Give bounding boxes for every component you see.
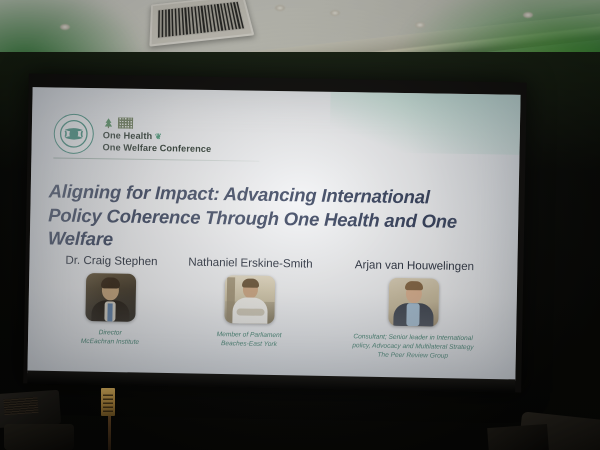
logo-mini-icon-row xyxy=(103,116,212,130)
logo-line1-text: One Health xyxy=(103,130,153,141)
speaker-name: Arjan van Houwelingen xyxy=(355,258,474,274)
speaker-card: Dr. Craig Stephen Director McEachran Ins… xyxy=(44,253,178,347)
speaker-row: Dr. Craig Stephen Director McEachran Ins… xyxy=(44,253,506,361)
building-grid-icon xyxy=(118,117,133,128)
ceiling-downlight xyxy=(415,22,425,28)
microphone-flag-card-text xyxy=(103,392,113,412)
ceiling-downlight xyxy=(275,5,285,11)
presentation-slide: One Health ❦ One Welfare Conference Alig… xyxy=(27,87,520,381)
leaf-icon: ❦ xyxy=(155,132,162,141)
hvac-vent-louvers xyxy=(157,1,245,39)
ceiling-downlight xyxy=(60,24,70,30)
speaker-card: Arjan van Houwelingen Consultant; Senior… xyxy=(322,258,506,362)
ceiling-downlight xyxy=(330,10,340,16)
speaker-photo-nathaniel-erskine-smith xyxy=(224,275,275,324)
speaker-name: Nathaniel Erskine-Smith xyxy=(188,256,313,272)
speaker-name: Dr. Craig Stephen xyxy=(65,254,157,269)
tree-icon xyxy=(103,117,114,128)
speaker-role: Consultant; Senior leader in Internation… xyxy=(352,332,474,361)
speaker-card: Nathaniel Erskine-Smith Member of Parlia… xyxy=(176,255,324,349)
conference-room-photo: One Health ❦ One Welfare Conference Alig… xyxy=(0,0,600,450)
speaker-photo-arjan-van-houwelingen xyxy=(388,278,439,327)
foreground-chair-right-secondary xyxy=(487,424,549,450)
projection-screen: One Health ❦ One Welfare Conference Alig… xyxy=(23,73,527,392)
logo-line-one-welfare-conference: One Welfare Conference xyxy=(102,142,211,154)
ceiling-downlight xyxy=(523,12,533,18)
conference-logo-lockup: One Health ❦ One Welfare Conference xyxy=(53,114,211,156)
pa-loudspeaker-base xyxy=(4,424,74,450)
one-health-one-welfare-emblem xyxy=(53,114,94,155)
logo-line-one-health: One Health ❦ xyxy=(103,130,212,143)
speaker-role: Director McEachran Institute xyxy=(81,328,140,347)
microphone-stand xyxy=(108,413,111,450)
slide-title: Aligning for Impact: Advancing Internati… xyxy=(48,179,469,256)
speaker-role: Member of Parliament Beaches-East York xyxy=(216,330,281,349)
speaker-photo-craig-stephen xyxy=(85,273,136,322)
logo-underline-rule xyxy=(53,158,259,162)
logo-text-block: One Health ❦ One Welfare Conference xyxy=(102,116,211,155)
pa-loudspeaker-grille xyxy=(3,397,38,415)
